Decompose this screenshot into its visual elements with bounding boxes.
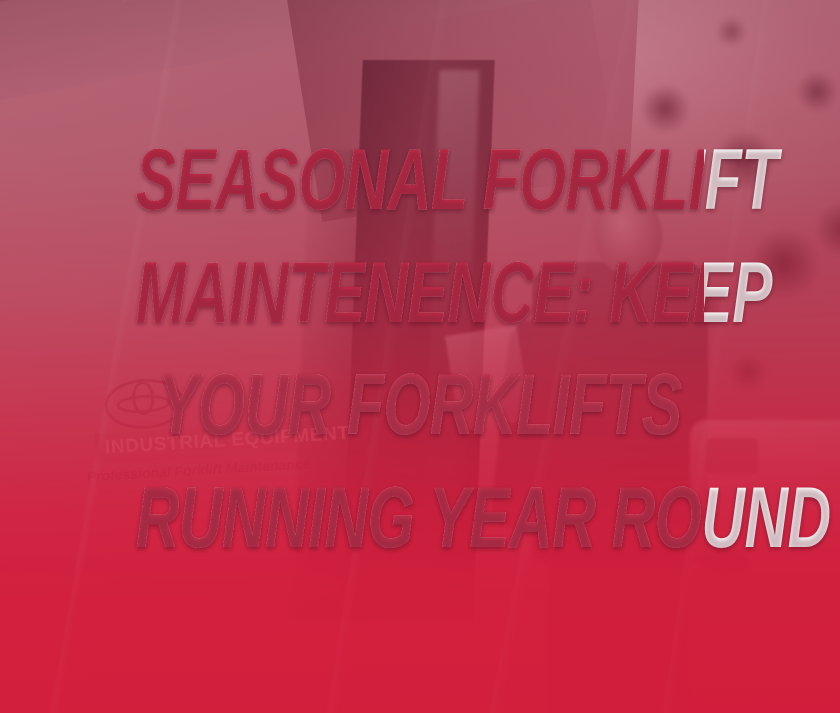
- headline-line-2: MAINTENENCE: KEEP: [136, 237, 704, 350]
- headline-line-1: SEASONAL FORKLIFT: [136, 124, 704, 237]
- promo-banner: INDUSTRIAL EQUIPMENT Professional Forkli…: [0, 0, 840, 713]
- headline-line-4: RUNNING YEAR ROUND: [136, 462, 704, 575]
- headline-block: SEASONAL FORKLIFT MAINTENENCE: KEEP YOUR…: [0, 124, 840, 575]
- headline-line-3: YOUR FORKLIFTS: [136, 349, 704, 462]
